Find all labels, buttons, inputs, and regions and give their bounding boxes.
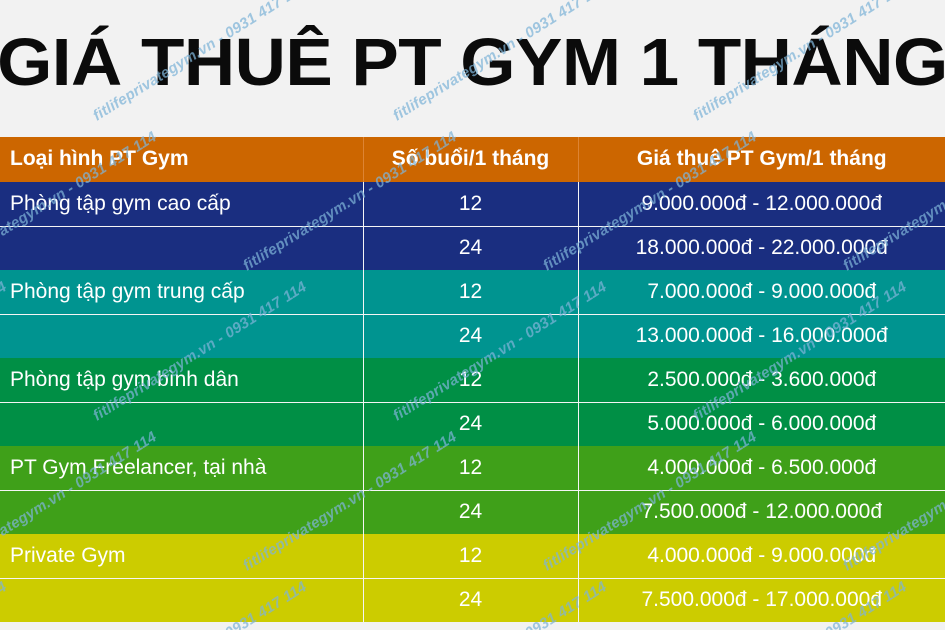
- table-row: Phòng tập gym bình dân122.500.000đ - 3.6…: [0, 358, 945, 402]
- table-row: 247.500.000đ - 17.000.000đ: [0, 578, 945, 622]
- cell-gym-type: [0, 402, 363, 446]
- header-cell-type: Loại hình PT Gym: [0, 137, 363, 182]
- cell-gym-type: PT Gym Freelancer, tại nhà: [0, 446, 363, 490]
- cell-sessions: 12: [363, 446, 578, 490]
- cell-price: 2.500.000đ - 3.600.000đ: [578, 358, 945, 402]
- table-row: Phòng tập gym trung cấp127.000.000đ - 9.…: [0, 270, 945, 314]
- header-cell-price: Giá thuê PT Gym/1 tháng: [578, 137, 945, 182]
- cell-price: 5.000.000đ - 6.000.000đ: [578, 402, 945, 446]
- table-row: 2418.000.000đ - 22.000.000đ: [0, 226, 945, 270]
- cell-sessions: 12: [363, 358, 578, 402]
- table-row: Phòng tập gym cao cấp129.000.000đ - 12.0…: [0, 182, 945, 226]
- table-row: PT Gym Freelancer, tại nhà124.000.000đ -…: [0, 446, 945, 490]
- table-row: Private Gym124.000.000đ - 9.000.000đ: [0, 534, 945, 578]
- table-row: 2413.000.000đ - 16.000.000đ: [0, 314, 945, 358]
- cell-gym-type: [0, 226, 363, 270]
- cell-price: 9.000.000đ - 12.000.000đ: [578, 182, 945, 226]
- cell-gym-type: Phòng tập gym cao cấp: [0, 182, 363, 226]
- cell-price: 4.000.000đ - 9.000.000đ: [578, 534, 945, 578]
- cell-sessions: 24: [363, 226, 578, 270]
- cell-gym-type: Private Gym: [0, 534, 363, 578]
- cell-sessions: 12: [363, 534, 578, 578]
- cell-price: 7.500.000đ - 12.000.000đ: [578, 490, 945, 534]
- cell-price: 4.000.000đ - 6.500.000đ: [578, 446, 945, 490]
- cell-sessions: 24: [363, 402, 578, 446]
- cell-sessions: 12: [363, 182, 578, 226]
- header-cell-sessions: Số buổi/1 tháng: [363, 137, 578, 182]
- table-header-row: Loại hình PT Gym Số buổi/1 tháng Giá thu…: [0, 137, 945, 182]
- cell-price: 18.000.000đ - 22.000.000đ: [578, 226, 945, 270]
- cell-gym-type: [0, 490, 363, 534]
- cell-gym-type: [0, 578, 363, 622]
- table-row: 247.500.000đ - 12.000.000đ: [0, 490, 945, 534]
- cell-gym-type: Phòng tập gym bình dân: [0, 358, 363, 402]
- cell-price: 13.000.000đ - 16.000.000đ: [578, 314, 945, 358]
- title-band: GIÁ THUÊ PT GYM 1 THÁNG: [0, 0, 945, 124]
- cell-price: 7.000.000đ - 9.000.000đ: [578, 270, 945, 314]
- price-table: Loại hình PT Gym Số buổi/1 tháng Giá thu…: [0, 137, 945, 622]
- cell-sessions: 24: [363, 314, 578, 358]
- infographic-page: GIÁ THUÊ PT GYM 1 THÁNG Loại hình PT Gym…: [0, 0, 945, 630]
- cell-sessions: 12: [363, 270, 578, 314]
- table-row: 245.000.000đ - 6.000.000đ: [0, 402, 945, 446]
- cell-gym-type: Phòng tập gym trung cấp: [0, 270, 363, 314]
- cell-gym-type: [0, 314, 363, 358]
- table-body: Phòng tập gym cao cấp129.000.000đ - 12.0…: [0, 182, 945, 622]
- page-title: GIÁ THUÊ PT GYM 1 THÁNG: [0, 29, 945, 96]
- cell-price: 7.500.000đ - 17.000.000đ: [578, 578, 945, 622]
- cell-sessions: 24: [363, 490, 578, 534]
- table-header: Loại hình PT Gym Số buổi/1 tháng Giá thu…: [0, 137, 945, 182]
- cell-sessions: 24: [363, 578, 578, 622]
